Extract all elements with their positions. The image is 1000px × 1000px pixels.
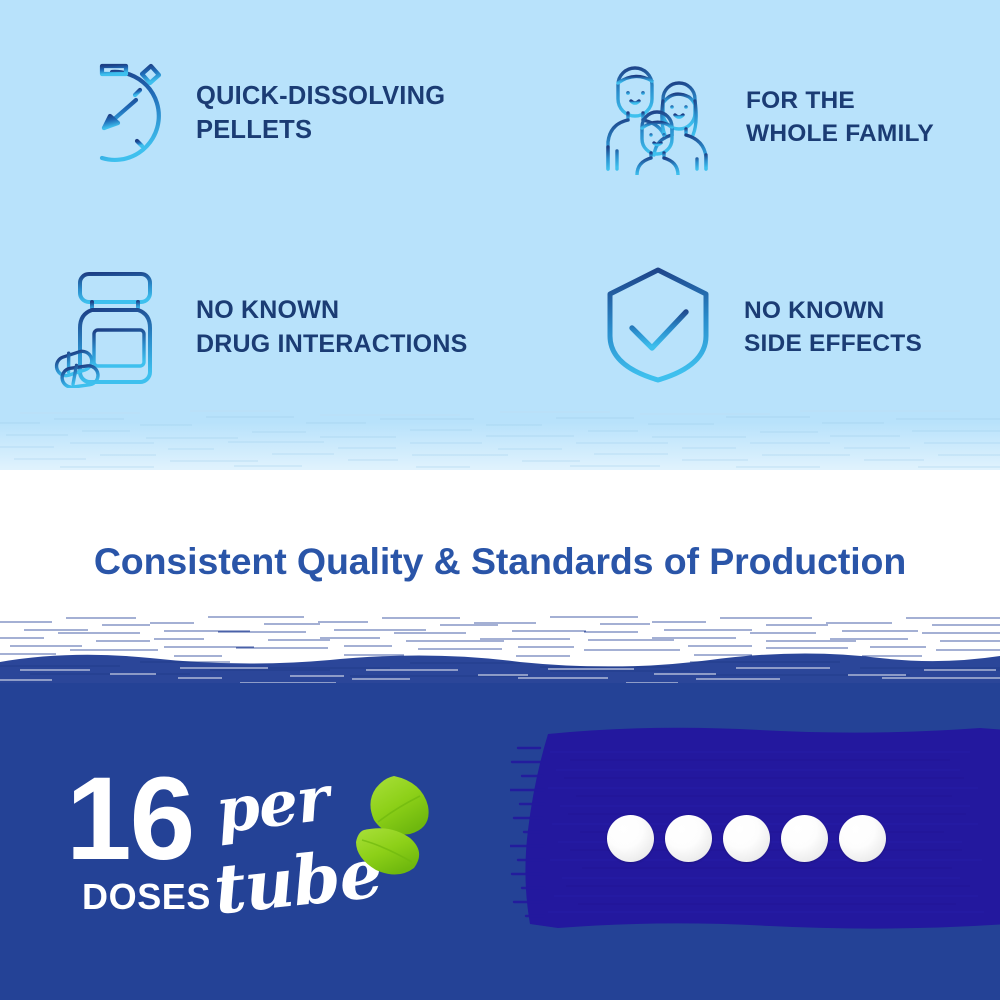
pellet-row: [607, 815, 886, 862]
shield-check-icon: [600, 262, 716, 393]
pellet-icon: [607, 815, 654, 862]
feature-grid: QUICK-DISSOLVING PELLETS: [0, 0, 1000, 430]
pellet-icon: [665, 815, 712, 862]
feature-no-side-effects: NO KNOWN SIDE EFFECTS: [600, 262, 922, 393]
page-title: Consistent Quality & Standards of Produc…: [0, 540, 1000, 583]
feature-no-drug-interactions: NO KNOWN DRUG INTERACTIONS: [52, 262, 467, 393]
doses-label: DOSES: [82, 876, 211, 918]
feature-whole-family: FOR THE WHOLE FAMILY: [600, 55, 934, 180]
feature-label: NO KNOWN SIDE EFFECTS: [744, 295, 922, 360]
doses-count: 16: [66, 760, 193, 878]
pellet-icon: [839, 815, 886, 862]
feature-label: FOR THE WHOLE FAMILY: [746, 85, 934, 150]
stopwatch-icon: [62, 48, 174, 179]
script-per: per: [212, 761, 333, 847]
feature-label: NO KNOWN DRUG INTERACTIONS: [196, 294, 467, 361]
pill-bottle-icon: [52, 262, 174, 393]
mint-leaf-icon: [334, 772, 444, 882]
pellet-icon: [781, 815, 828, 862]
doses-callout: 16 DOSES per tube: [66, 766, 486, 926]
pellet-icon: [723, 815, 770, 862]
product-infographic: QUICK-DISSOLVING PELLETS: [0, 0, 1000, 1000]
feature-label: QUICK-DISSOLVING PELLETS: [196, 80, 445, 148]
feature-quick-dissolving: QUICK-DISSOLVING PELLETS: [62, 48, 445, 179]
family-icon: [600, 55, 720, 180]
